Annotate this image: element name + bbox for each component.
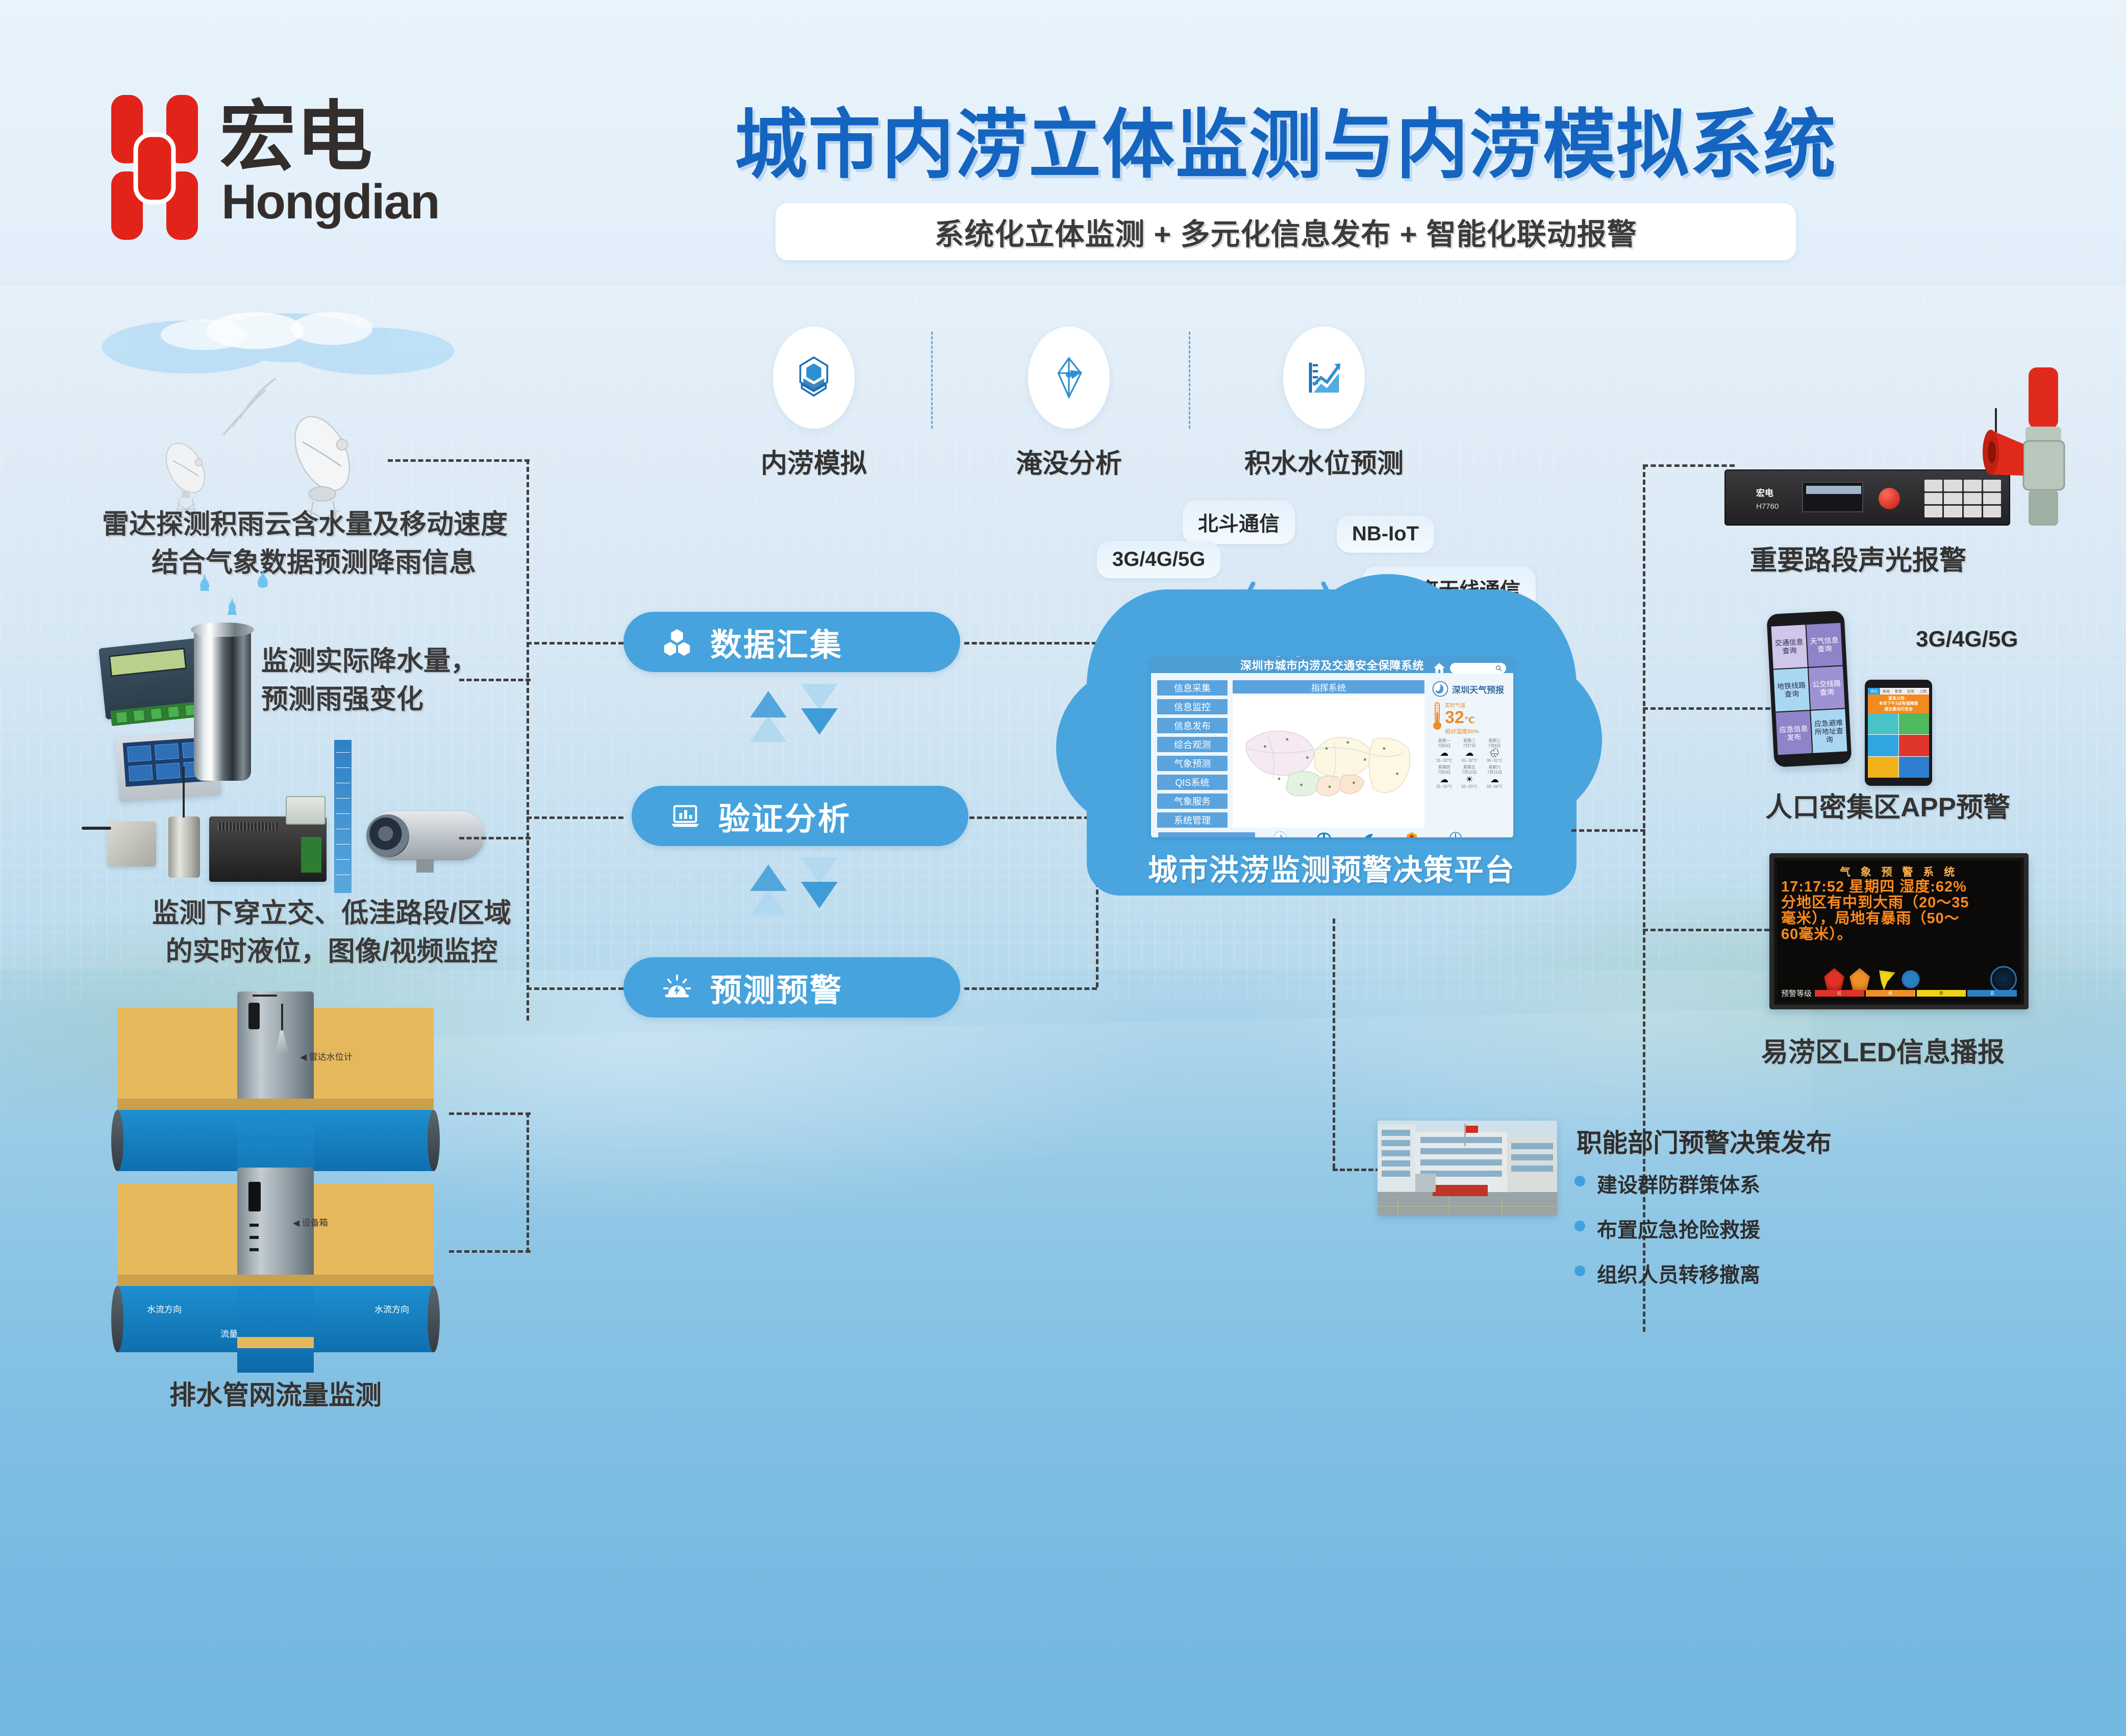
led-line2: 分地区有中到大雨（20～35: [1781, 895, 2017, 911]
weather-panel: 深圳天气预报 实时气温 32℃ 相对湿度80%: [1430, 680, 1507, 828]
dashboard-footer: 联动单位信息采集系统 中国气象局 广东省水利厅 广东水文局 广东省公安厅 广东省…: [1151, 831, 1513, 837]
rainfall-description: 监测实际降水量， 预测雨强变化: [261, 642, 478, 719]
radar-dishes-illustration: [87, 306, 485, 520]
cube-stack-icon: [773, 327, 855, 429]
feature-inundation-analysis[interactable]: 淹没分析: [985, 327, 1153, 480]
government-title: 职能部门预警决策发布: [1577, 1123, 1832, 1159]
connector-to-alarm: [1643, 464, 1735, 467]
nav-item-1[interactable]: 信息监控: [1157, 699, 1228, 714]
level-swatch: 蓝: [1967, 990, 2017, 997]
emergency-button[interactable]: [1879, 488, 1900, 509]
radar-description-line1: 雷达探测积雨云含水量及移动速度: [102, 505, 526, 543]
connector-gov-vertical: [1333, 919, 1335, 1169]
dashboard-header: 深圳市城市内涝及交通安全保障系统: [1151, 657, 1513, 673]
connector-cloud-right: [1571, 829, 1645, 832]
emergency-notice: 紧急公告： 本市下午3点有强降雨 请注意出行安全: [1868, 695, 1929, 713]
device-brand-label: 宏电: [1756, 486, 1773, 499]
radar-description-line2: 结合气象数据预测降雨信息: [102, 543, 526, 582]
forecast-day: 星期一7月6日☁31~32℃: [1432, 738, 1457, 763]
notice-line1: 本市下午3点有强降雨: [1869, 701, 1928, 706]
map-panel-title: 指挥系统: [1233, 680, 1424, 693]
well-device-label: ◀ 雷达水位计: [300, 1050, 353, 1062]
government-bullet-1: 建设群防群策体系: [1597, 1169, 1760, 1198]
tablet-app-tile[interactable]: [1899, 735, 1930, 756]
app-tile[interactable]: 应急避难所地址查询: [1811, 709, 1847, 753]
region-map[interactable]: [1233, 696, 1424, 828]
humidity-value: 相对湿度80%: [1445, 727, 1479, 735]
pipe-diagram-caption: 排水管网流量监测: [117, 1374, 434, 1412]
weather-icon: ☀: [1457, 775, 1482, 785]
flow-arrows-1: [750, 684, 878, 750]
process-step-forecast-warning[interactable]: 预测预警: [623, 957, 960, 1018]
forecast-day: 星期二7月7日☁31~32℃: [1457, 738, 1482, 763]
app-tile[interactable]: 公交线路查询: [1809, 666, 1845, 710]
tablet-app-tile[interactable]: [1899, 713, 1930, 734]
page-subtitle: 系统化立体监测 + 多元化信息发布 + 智能化联动报警: [934, 210, 1637, 253]
temperature-value: 32: [1445, 708, 1464, 727]
level-monitor-line1: 监测下穿立交、低洼路段/区域: [102, 894, 561, 932]
hongdian-logo: 宏电 Hongdian: [106, 82, 494, 245]
app-caption: 人口密集区APP预警: [1765, 786, 2010, 825]
process-step-label: 数据汇集: [710, 619, 843, 665]
connector-radar: [388, 459, 530, 462]
tablet-app-tile[interactable]: [1868, 735, 1898, 756]
device-model-label: H7760: [1756, 502, 1779, 511]
feature-divider-2: [1189, 332, 1190, 429]
process-step-label: 预测预警: [710, 964, 843, 1010]
feature-neilao-simulation[interactable]: 内涝模拟: [730, 327, 898, 480]
alarm-light-icon: [661, 972, 693, 1003]
search-icon: [1495, 665, 1502, 672]
government-building-photo: [1378, 1121, 1557, 1216]
process-step-data-collection[interactable]: 数据汇集: [623, 612, 960, 672]
led-display-board: 气 象 预 警 系 统 17:17:52 星期四 湿度:62% 分地区有中到大雨…: [1769, 853, 2029, 1009]
app-tile[interactable]: 交通信息查询: [1771, 625, 1807, 668]
svg-text:Hongdian: Hongdian: [221, 175, 439, 229]
nav-item-7[interactable]: 系统管理: [1157, 812, 1228, 828]
notice-line2: 请注意出行安全: [1869, 707, 1928, 712]
svg-text:宏电: 宏电: [219, 94, 372, 180]
connector-to-government: [1333, 1169, 1381, 1171]
nav-item-2[interactable]: 信息发布: [1157, 718, 1228, 733]
connector-to-led: [1643, 929, 1769, 931]
level-probe-device: [168, 816, 200, 878]
smartphone-device: 交通信息查询 天气信息查询 地铁线路查询 公交线路查询 应急信息发布 应急避难所…: [1766, 610, 1852, 767]
forecast-day: 星期五7月10日☀32~33℃: [1457, 765, 1482, 789]
cma-icon: [1273, 831, 1287, 837]
connector-rain: [459, 679, 531, 681]
hydrology-icon: [1361, 831, 1375, 837]
trend-chart-icon: [1283, 327, 1365, 429]
nav-item-3[interactable]: 综合观测: [1157, 737, 1228, 752]
infographic-canvas: 宏电 Hongdian 城市内涝立体监测与内涝模拟系统 系统化立体监测 + 多元…: [0, 0, 2126, 1736]
water-resources-icon: [1317, 831, 1331, 837]
network-label: 3G/4G/5G: [1916, 627, 2018, 652]
led-line1: 17:17:52 星期四 湿度:62%: [1781, 879, 2017, 895]
platform-dashboard[interactable]: 深圳市城市内涝及交通安全保障系统 信息采集 信息监控 信息发布 综合观测 气象预…: [1151, 657, 1513, 837]
connector-well: [449, 1112, 531, 1115]
feature-divider-1: [931, 332, 933, 429]
warning-level-icons: [1824, 968, 1921, 990]
temperature-unit: ℃: [1464, 715, 1475, 725]
level-swatch: 橙: [1866, 990, 1915, 997]
dashboard-title: 深圳市城市内涝及交通安全保障系统: [1240, 657, 1424, 673]
connector-level: [459, 837, 531, 839]
feature-label: 淹没分析: [985, 442, 1153, 480]
level-monitor-line2: 的实时液位，图像/视频监控: [102, 932, 561, 971]
connector-left-trunk: [527, 459, 529, 1021]
forecast-day: 星期四7月9日☁31~32℃: [1432, 765, 1457, 789]
app-tile[interactable]: 应急信息发布: [1775, 711, 1812, 755]
connector-step1-cloud: [964, 642, 1097, 644]
notice-title: 紧急公告：: [1869, 696, 1928, 701]
siren-beacon-device: [1980, 367, 2107, 536]
dashboard-sidebar[interactable]: 信息采集 信息监控 信息发布 综合观测 气象预测 QIS系统 气象服务 系统管理: [1157, 680, 1228, 828]
weather-icon: ☁: [1432, 775, 1457, 785]
subtitle-banner: 系统化立体监测 + 多元化信息发布 + 智能化联动报警: [776, 203, 1796, 260]
weather-panel-title: 深圳天气预报: [1452, 683, 1504, 696]
warning-level-label: 预警等级: [1781, 988, 1812, 999]
mesh-network-icon: [1028, 327, 1110, 429]
tablet-app-tile[interactable]: [1868, 713, 1898, 734]
org-logo-item: 广东省水利厅: [1305, 831, 1343, 837]
tablet-app-tile[interactable]: [1868, 757, 1898, 778]
nav-item-6[interactable]: 气象服务: [1157, 793, 1228, 809]
connector-right-trunk: [1643, 464, 1645, 1332]
connector-to-step2: [527, 816, 623, 819]
org-logo-item: 广东水文局: [1349, 831, 1387, 837]
tablet-tab[interactable]: 影音: [1892, 688, 1905, 695]
level-swatch: 红: [1815, 990, 1864, 997]
gas-sensor-device: [286, 796, 326, 825]
feature-label: 内涝模拟: [730, 442, 898, 480]
tablet-app-grid[interactable]: [1868, 713, 1929, 778]
home-icon[interactable]: [1433, 661, 1446, 675]
led-line3: 毫米），局地有暴雨（50～: [1781, 911, 2017, 927]
org-logo-item: 广东省地质局: [1437, 831, 1474, 837]
tablet-tab[interactable]: 新闻: [1880, 688, 1892, 695]
thermometer-icon: [1432, 701, 1443, 732]
government-bullet-2: 布置应急抢险救援: [1597, 1213, 1760, 1243]
weather-icon: ☁: [1482, 775, 1507, 785]
rain-gauge-device: [194, 628, 251, 781]
weather-icon: ☁: [1432, 749, 1457, 758]
tablet-tab[interactable]: 资讯: [1868, 688, 1880, 695]
data-logger-device: [98, 638, 208, 720]
org-logo-item: 广东省公安厅: [1393, 831, 1431, 837]
led-line4: 60毫米）。: [1781, 927, 2017, 943]
flow-direction-left: 水流方向: [147, 1302, 182, 1315]
feature-label: 积水水位预测: [1240, 442, 1408, 480]
rtu-controller-device: [209, 816, 327, 882]
hexagon-cluster-icon: [661, 626, 693, 658]
comm-chip-cellular[interactable]: 3G/4G/5G: [1097, 541, 1220, 578]
tablet-tab[interactable]: 应用: [1905, 688, 1917, 695]
pipe-device-label: ◀ 设备箱: [293, 1216, 328, 1228]
tablet-tabs[interactable]: 资讯 新闻 影音 应用 上网: [1868, 688, 1929, 695]
app-tile[interactable]: 地铁线路查询: [1773, 668, 1810, 712]
weather-icon: ☁: [1457, 749, 1482, 758]
level-swatch: 黄: [1917, 990, 1966, 997]
tablet-app-tile[interactable]: [1899, 757, 1930, 778]
water-drop-icon: [258, 576, 268, 588]
connector-pipe: [449, 1250, 531, 1253]
water-drop-icon: [200, 579, 209, 590]
alarm-controller-device: 宏电 H7760: [1724, 469, 2010, 526]
level-monitor-description: 监测下穿立交、低洼路段/区域 的实时液位，图像/视频监控: [102, 894, 561, 971]
nav-item-0[interactable]: 信息采集: [1157, 680, 1228, 696]
connector-left-trunk-lower: [527, 1112, 529, 1253]
process-step-verification-analysis[interactable]: 验证分析: [632, 786, 968, 846]
geology-icon: [1448, 831, 1463, 837]
footer-tag: 联动单位信息采集系统: [1158, 832, 1255, 837]
org-logo-item: 中国气象局: [1261, 831, 1299, 837]
forecast-day: 星期三7月8日🌧30~31℃: [1482, 738, 1507, 763]
warning-level-swatches: 红 橙 黄 蓝: [1815, 990, 2017, 997]
alarm-caption: 重要路段声光报警: [1750, 539, 1966, 578]
laptop-chart-icon: [669, 800, 701, 832]
flow-direction-right: 水流方向: [374, 1302, 409, 1315]
connector-step3-cloud: [964, 987, 1097, 990]
surveillance-camera-device: [367, 811, 485, 860]
pressure-sensor-device: [107, 822, 156, 866]
comm-chip-nbiot[interactable]: NB-IoT: [1337, 515, 1434, 553]
weather-forecast-list: 星期一7月6日☁31~32℃ 星期二7月7日☁31~32℃ 星期三7月8日🌧30…: [1432, 738, 1507, 791]
feature-water-level-forecast[interactable]: 积水水位预测: [1240, 327, 1408, 480]
search-input[interactable]: [1450, 663, 1506, 674]
rainfall-description-line2: 预测雨强变化: [261, 680, 478, 718]
police-icon: [1405, 831, 1419, 837]
connector-step2-cloud: [969, 816, 1097, 819]
connector-to-app: [1643, 707, 1770, 710]
platform-caption: 城市洪涝监测预警决策平台: [1087, 846, 1577, 889]
led-caption: 易涝区LED信息播报: [1761, 1031, 2005, 1070]
flow-arrows-2: [750, 857, 878, 924]
rainfall-description-line1: 监测实际降水量，: [261, 642, 478, 680]
pipe-flow-diagram: ◀ 设备箱 水流方向 水流方向 流量计 ▶ 排水管网流量监测: [117, 1184, 434, 1412]
nav-item-4[interactable]: 气象预测: [1157, 756, 1228, 771]
page-title: 城市内涝立体监测与内涝模拟系统: [619, 105, 1952, 186]
tablet-tab[interactable]: 上网: [1917, 688, 1929, 695]
process-step-label: 验证分析: [718, 793, 851, 839]
app-tile[interactable]: 天气信息查询: [1806, 623, 1842, 667]
connector-to-step1: [527, 642, 623, 644]
water-drop-icon: [229, 602, 236, 611]
tablet-device: 资讯 新闻 影音 应用 上网 紧急公告： 本市下午3点有强降雨 请注意出行安全: [1865, 680, 1932, 786]
led-screen-title: 气 象 预 警 系 统: [1781, 864, 2017, 879]
forecast-day: 星期六7月11日☁33~34℃: [1482, 765, 1507, 789]
government-bullet-3: 组织人员转移撤离: [1597, 1258, 1760, 1288]
comm-chip-beidou[interactable]: 北斗通信: [1183, 500, 1295, 544]
water-level-ruler: [334, 740, 352, 893]
app-tile-grid[interactable]: 交通信息查询 天气信息查询 地铁线路查询 公交线路查询 应急信息发布 应急避难所…: [1771, 623, 1847, 755]
connector-to-step3: [527, 987, 623, 990]
nav-item-5[interactable]: QIS系统: [1157, 775, 1228, 790]
radar-description: 雷达探测积雨云含水量及移动速度 结合气象数据预测降雨信息: [102, 505, 526, 582]
cma-logo-icon: [1432, 680, 1449, 698]
weather-icon: 🌧: [1482, 749, 1507, 758]
